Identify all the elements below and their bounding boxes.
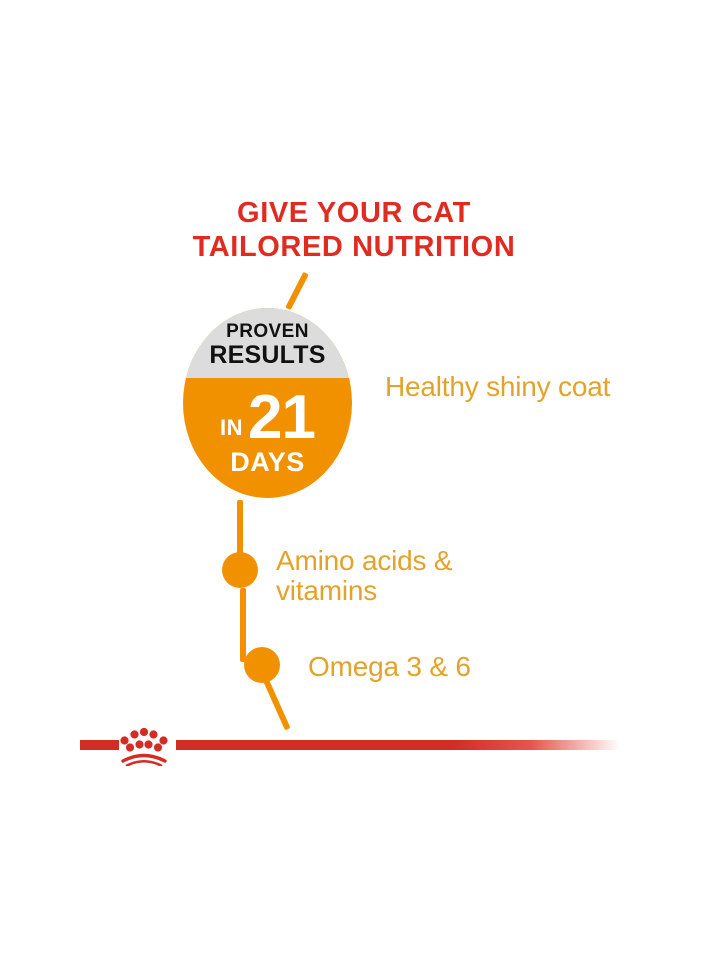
brand-bar-right <box>176 740 620 750</box>
badge-number: 21 <box>248 390 315 446</box>
headline-line-1: GIVE YOUR CAT <box>237 197 471 229</box>
brand-bar-left <box>80 740 119 750</box>
badge-proven-label: PROVEN <box>183 322 352 342</box>
bullet-dot-amino <box>222 552 258 588</box>
benefit-label-coat: Healthy shiny coat <box>385 372 625 402</box>
page-title: GIVE YOUR CAT TAILORED NUTRITION <box>0 196 708 264</box>
crown-icon <box>118 726 170 766</box>
benefit-label-amino: Amino acids & vitamins <box>276 546 536 606</box>
headline-line-2: TAILORED NUTRITION <box>0 230 708 264</box>
benefit-label-omega: Omega 3 & 6 <box>308 652 588 682</box>
proven-results-badge: PROVEN RESULTS IN 21 DAYS <box>183 308 352 498</box>
badge-in-label: IN <box>220 417 243 439</box>
connector-stroke-2 <box>240 588 246 662</box>
connector-stroke-top <box>285 272 309 310</box>
bullet-dot-omega <box>244 647 280 683</box>
badge-number-row: IN 21 <box>183 384 352 446</box>
badge-days-label: DAYS <box>183 448 352 476</box>
badge-results-label: RESULTS <box>183 342 352 369</box>
connector-stroke-3 <box>262 677 290 731</box>
product-infographic-page: GIVE YOUR CAT TAILORED NUTRITION PROVEN … <box>0 0 708 966</box>
